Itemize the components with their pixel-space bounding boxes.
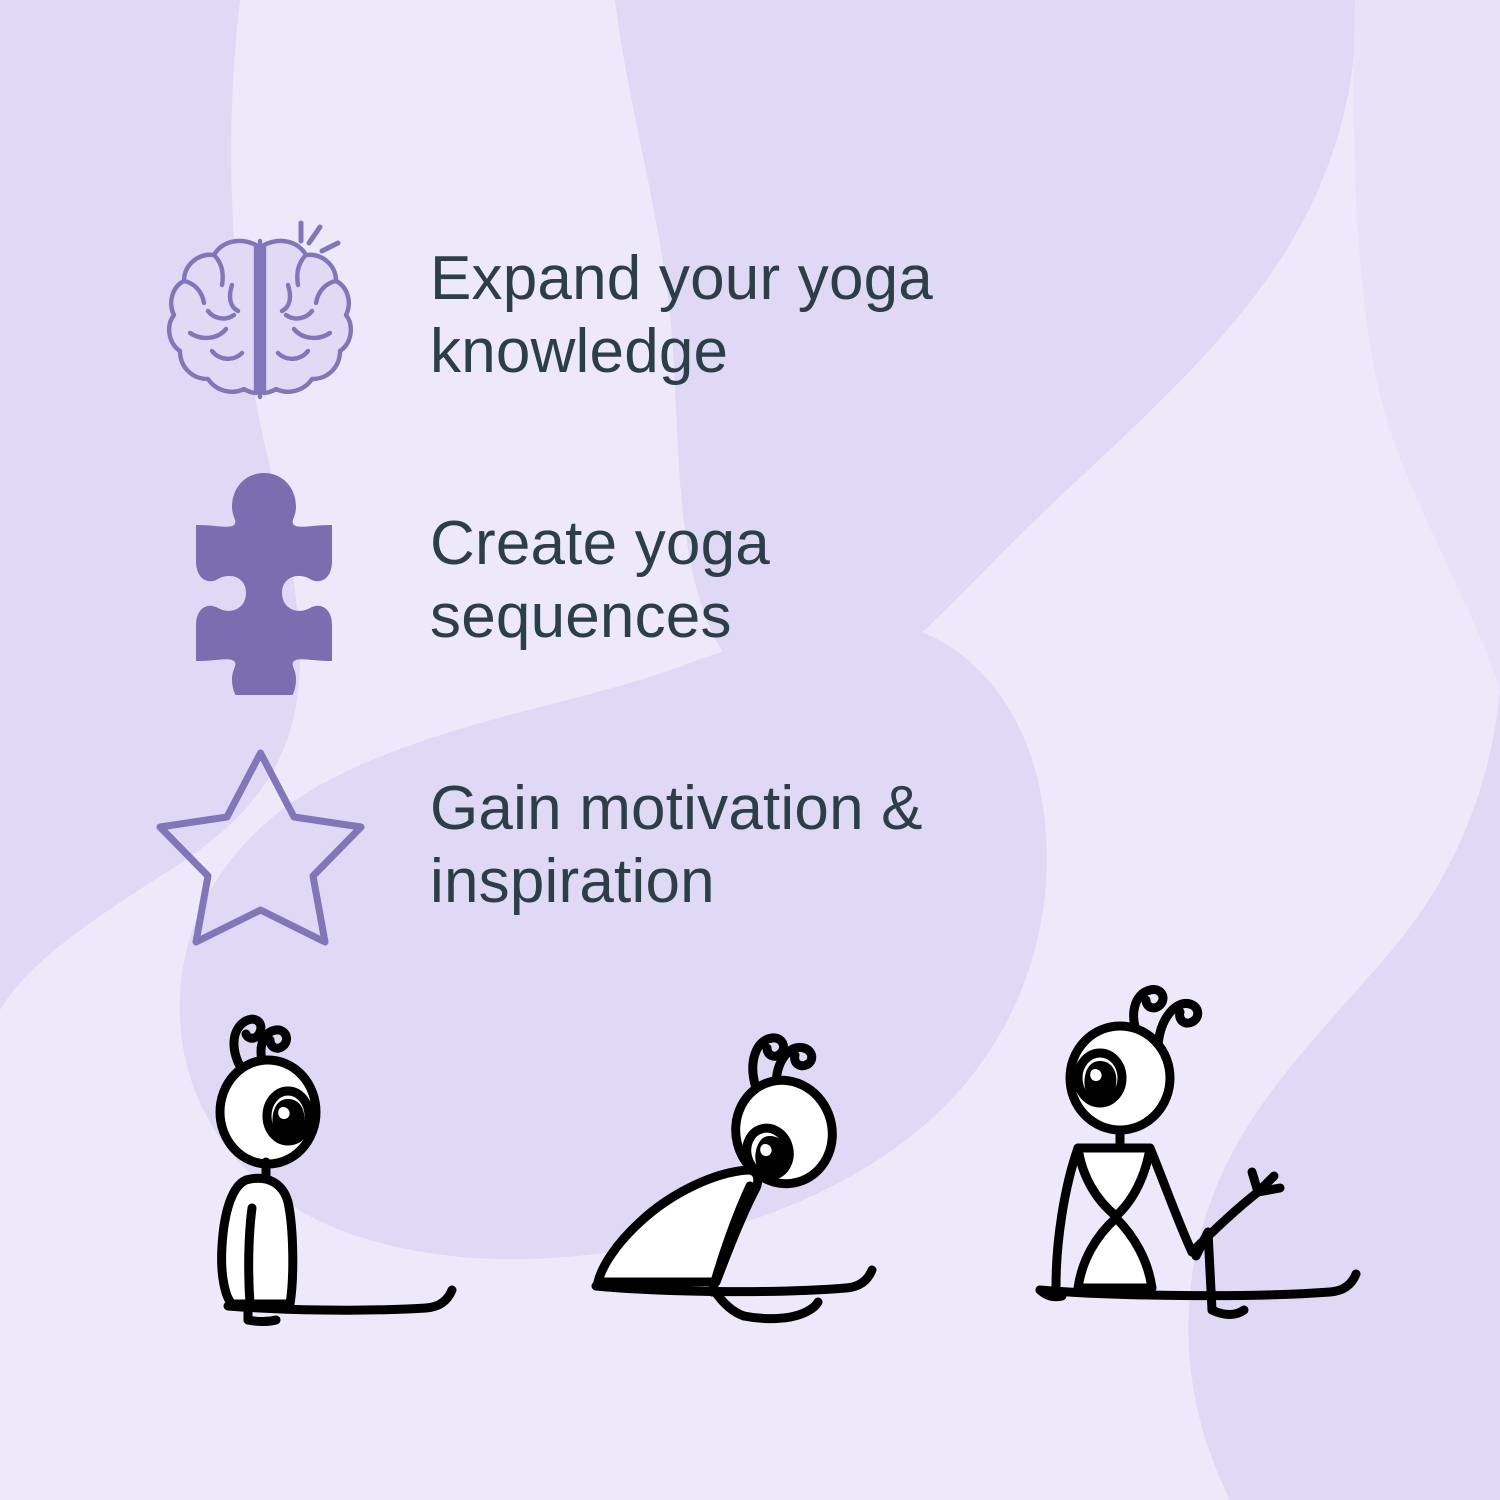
benefit-label-expand-knowledge: Expand your yoga knowledge xyxy=(430,242,933,388)
stick-figure-forward-bend-icon xyxy=(596,1038,872,1319)
star-icon xyxy=(153,743,368,948)
star-icon-wrapper xyxy=(150,730,370,960)
spark-icon xyxy=(301,223,338,251)
stick-figures-group xyxy=(0,960,1500,1360)
brain-icon xyxy=(160,215,360,415)
benefit-label-create-sequences: Create yoga sequences xyxy=(430,507,770,653)
stick-figure-seated-reach-icon xyxy=(1040,989,1356,1314)
benefit-label-gain-motivation: Gain motivation & inspiration xyxy=(430,772,923,918)
brain-icon-wrapper xyxy=(150,200,370,430)
puzzle-piece-icon-wrapper xyxy=(150,465,370,695)
benefit-row-expand-knowledge: Expand your yoga knowledge xyxy=(150,200,1150,430)
benefit-row-gain-motivation: Gain motivation & inspiration xyxy=(150,730,1150,960)
stick-figure-kneeling-icon xyxy=(220,1019,452,1321)
puzzle-piece-icon xyxy=(160,465,360,695)
yoga-benefits-poster: Expand your yoga knowledge Create yoga s… xyxy=(0,0,1500,1500)
benefit-row-create-sequences: Create yoga sequences xyxy=(150,465,1150,695)
